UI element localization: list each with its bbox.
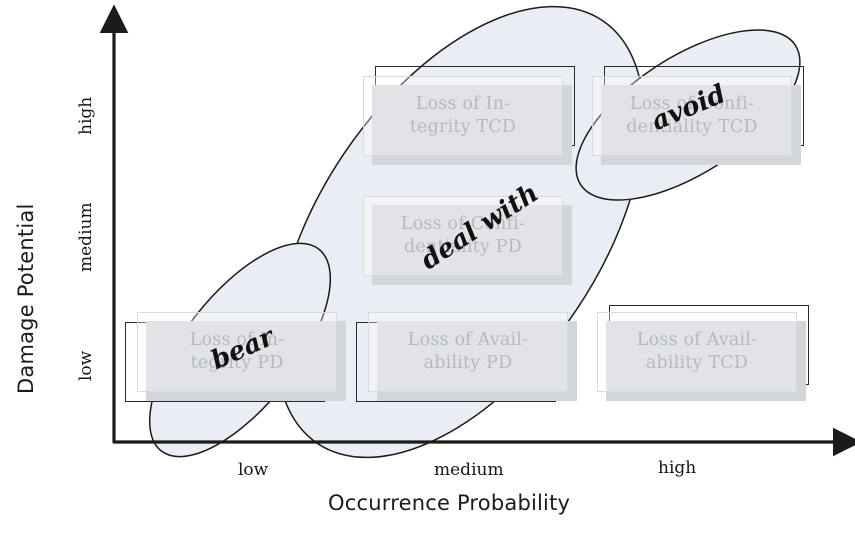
x-tick-medium: medium bbox=[434, 460, 504, 480]
risk-cell-line1: Loss of Avail- bbox=[408, 329, 528, 352]
y-axis-title: Damage Potential bbox=[14, 204, 38, 395]
risk-cell-line2: tegrity TCD bbox=[410, 116, 516, 139]
y-tick-low: low bbox=[76, 351, 96, 381]
risk-cell-loss-of-availability-pd[interactable]: Loss of Avail-ability PD bbox=[368, 312, 568, 392]
y-tick-medium: medium bbox=[76, 202, 96, 272]
y-tick-high: high bbox=[76, 97, 96, 135]
risk-cell-loss-of-availability-tcd[interactable]: Loss of Avail-ability TCD bbox=[597, 312, 797, 392]
x-tick-low: low bbox=[238, 460, 268, 480]
risk-cell-line2: ability TCD bbox=[637, 352, 757, 375]
risk-cell-line1: Loss of In- bbox=[410, 93, 516, 116]
risk-cell-line1: Loss of Avail- bbox=[637, 329, 757, 352]
risk-cell-line2: ability PD bbox=[408, 352, 528, 375]
risk-cell-loss-of-integrity-tcd[interactable]: Loss of In-tegrity TCD bbox=[363, 76, 563, 156]
x-tick-high: high bbox=[658, 458, 696, 478]
x-axis-title: Occurrence Probability bbox=[328, 491, 570, 515]
